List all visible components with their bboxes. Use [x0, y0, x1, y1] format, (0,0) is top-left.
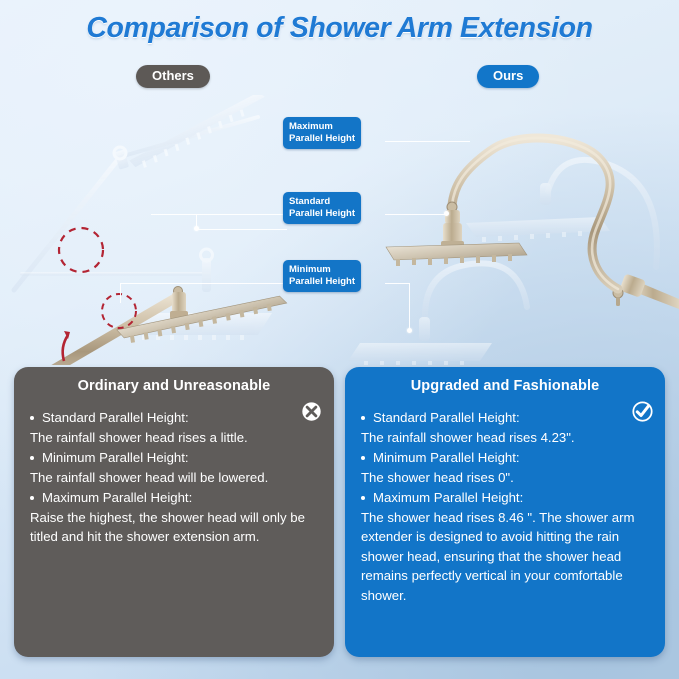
panel-others-heading: Ordinary and Unreasonable [14, 367, 334, 394]
leader-elbow-right-minimum [409, 283, 410, 331]
tag-maximum-parallel-height: Maximum Parallel Height [283, 117, 361, 149]
list-item: Standard Parallel Height: The rainfall s… [30, 408, 320, 447]
list-item: Maximum Parallel Height: The shower head… [361, 488, 651, 605]
point-body: The shower head rises 8.46 ". The shower… [361, 508, 651, 606]
list-item: Minimum Parallel Height: The rainfall sh… [30, 448, 320, 487]
list-item: Minimum Parallel Height: The shower head… [361, 448, 651, 487]
list-item: Standard Parallel Height: The rainfall s… [361, 408, 651, 447]
point-body: The rainfall shower head will be lowered… [30, 468, 320, 488]
bullet-dot [361, 416, 365, 420]
leader-line-maximum [151, 214, 287, 215]
leader-line-right-standard [385, 214, 446, 215]
tag-minimum-parallel-height: Minimum Parallel Height [283, 260, 361, 292]
leader-dot-standard [194, 226, 199, 231]
point-header: Standard Parallel Height: [373, 408, 651, 428]
leader-line-right-minimum [385, 283, 410, 284]
ours-shower-head [386, 243, 527, 266]
right-ghost-minimum [348, 263, 527, 365]
page-title: Comparison of Shower Arm Extension [0, 12, 679, 45]
point-header: Minimum Parallel Height: [42, 448, 320, 468]
leader-line-right-maximum [385, 141, 470, 142]
point-header: Maximum Parallel Height: [373, 488, 651, 508]
panel-ours-heading: Upgraded and Fashionable [345, 367, 665, 394]
panel-ours-points: Standard Parallel Height: The rainfall s… [345, 394, 665, 605]
bullet-dot [30, 496, 34, 500]
bullet-dot [361, 456, 365, 460]
point-body: The shower head rises 0". [361, 468, 651, 488]
point-body: Raise the highest, the shower head will … [30, 508, 320, 547]
point-body: The rainfall shower head rises a little. [30, 428, 320, 448]
leader-line-standard [196, 229, 287, 230]
point-header: Standard Parallel Height: [42, 408, 320, 428]
point-header: Maximum Parallel Height: [42, 488, 320, 508]
tag-standard-parallel-height: Standard Parallel Height [283, 192, 361, 224]
leader-line-minimum [120, 283, 288, 284]
leader-dot-right-minimum [407, 328, 412, 333]
point-header: Minimum Parallel Height: [373, 448, 651, 468]
leader-elbow-minimum [120, 283, 121, 303]
list-item: Maximum Parallel Height: Raise the highe… [30, 488, 320, 547]
leader-dot-right-standard [444, 211, 449, 216]
badge-ours: Ours [477, 65, 539, 88]
panel-others: Ordinary and Unreasonable Standard Paral… [14, 367, 334, 657]
point-body: The rainfall shower head rises 4.23". [361, 428, 651, 448]
comparison-infographic: Comparison of Shower Arm Extension Other… [0, 0, 679, 679]
left-ghost-maximum [14, 95, 275, 290]
bullet-dot [30, 456, 34, 460]
bullet-dot [30, 416, 34, 420]
panel-others-points: Standard Parallel Height: The rainfall s… [14, 394, 334, 547]
panel-ours: Upgraded and Fashionable Standard Parall… [345, 367, 665, 657]
bullet-dot [361, 496, 365, 500]
badge-others: Others [136, 65, 210, 88]
